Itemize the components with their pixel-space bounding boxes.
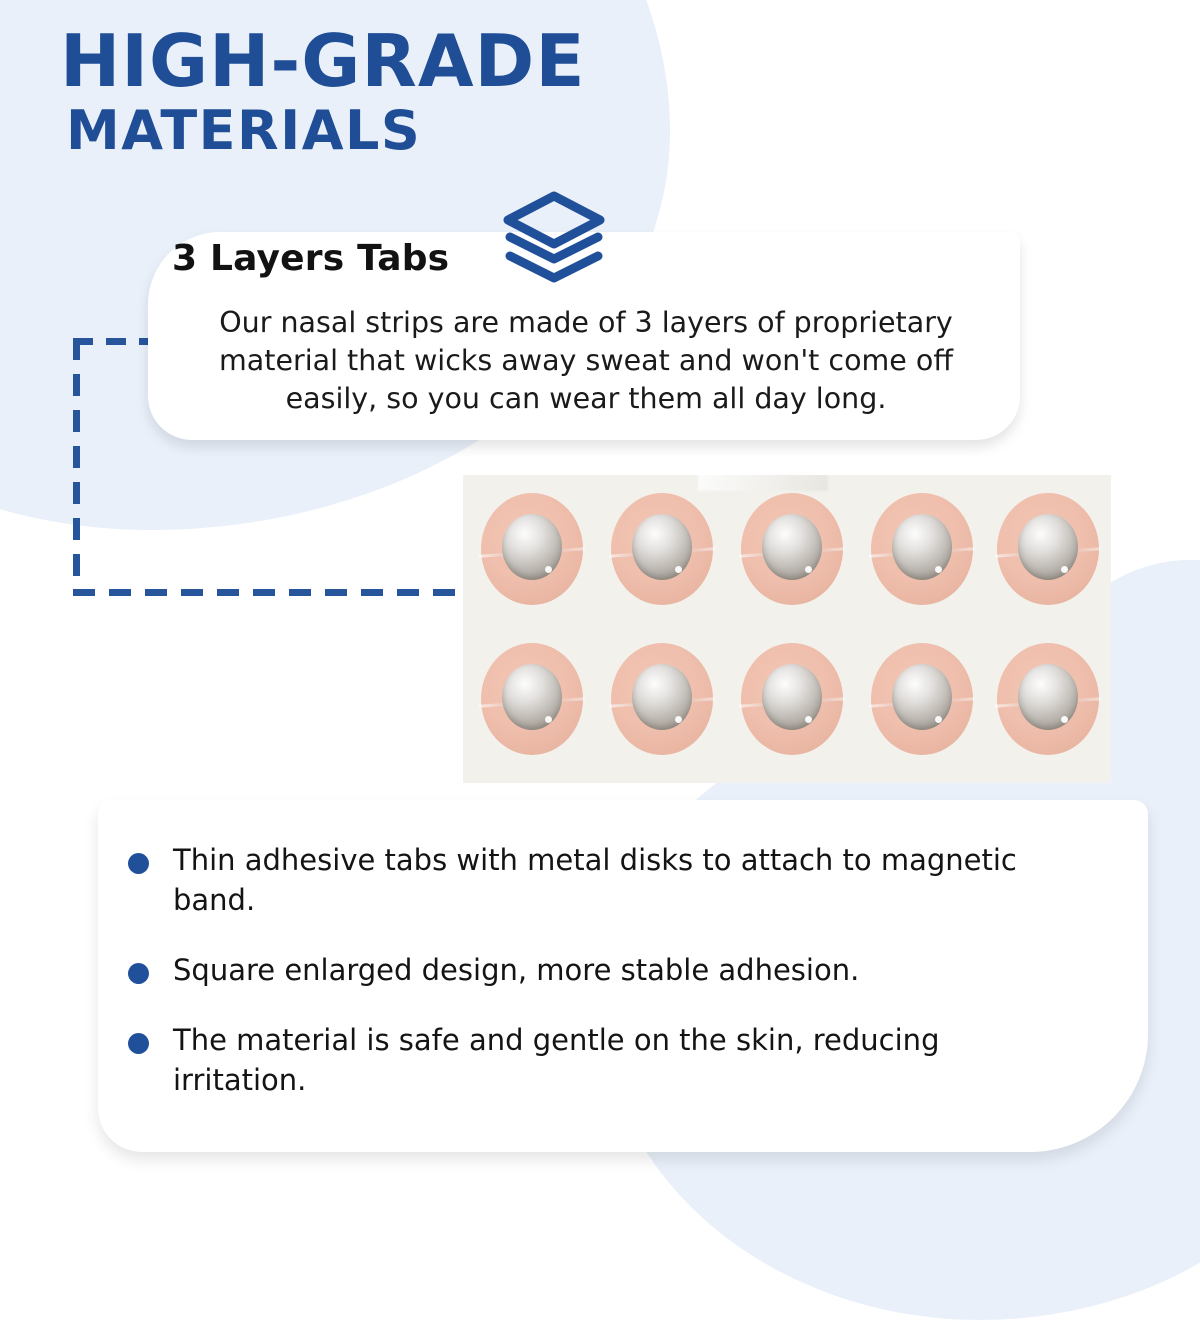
adhesive-tab bbox=[871, 643, 973, 755]
metal-disk bbox=[502, 514, 562, 580]
adhesive-tab bbox=[997, 493, 1099, 605]
metal-disk bbox=[632, 514, 692, 580]
adhesive-tab bbox=[871, 493, 973, 605]
headline-line-1: HIGH-GRADE bbox=[60, 26, 586, 97]
bullet-dot-icon bbox=[128, 853, 149, 874]
bullet-dot-icon bbox=[128, 963, 149, 984]
feature-bullet-text: The material is safe and gentle on the s… bbox=[173, 1020, 1033, 1100]
feature-bullet-text: Square enlarged design, more stable adhe… bbox=[173, 950, 859, 990]
adhesive-tab bbox=[741, 643, 843, 755]
feature-bullet-item: The material is safe and gentle on the s… bbox=[128, 1020, 1068, 1100]
headline-line-2: MATERIALS bbox=[66, 103, 586, 160]
metal-disk bbox=[1018, 664, 1078, 730]
adhesive-tab bbox=[741, 493, 843, 605]
metal-disk bbox=[892, 664, 952, 730]
feature-bullet-item: Thin adhesive tabs with metal disks to a… bbox=[128, 840, 1068, 920]
metal-disk bbox=[762, 664, 822, 730]
metal-disk bbox=[762, 514, 822, 580]
layers-stack-icon bbox=[498, 188, 610, 288]
paragraph-line-1: Our nasal strips are made of 3 layers of… bbox=[160, 304, 1012, 342]
paragraph-line-2: material that wicks away sweat and won't… bbox=[160, 342, 1012, 380]
metal-disk bbox=[502, 664, 562, 730]
metal-disk bbox=[632, 664, 692, 730]
feature-paragraph: Our nasal strips are made of 3 layers of… bbox=[160, 304, 1012, 418]
adhesive-tab bbox=[481, 643, 583, 755]
adhesive-tab bbox=[481, 493, 583, 605]
page-title: HIGH-GRADE MATERIALS bbox=[60, 26, 586, 159]
metal-disk bbox=[1018, 514, 1078, 580]
product-photo bbox=[463, 475, 1111, 783]
bullet-dot-icon bbox=[128, 1033, 149, 1054]
adhesive-tab bbox=[997, 643, 1099, 755]
feature-bullet-text: Thin adhesive tabs with metal disks to a… bbox=[173, 840, 1033, 920]
paragraph-line-3: easily, so you can wear them all day lon… bbox=[160, 380, 1012, 418]
metal-disk bbox=[892, 514, 952, 580]
infographic-canvas: HIGH-GRADE MATERIALS 3 Layers Tabs Our n… bbox=[0, 0, 1200, 1200]
feature-bullet-list: Thin adhesive tabs with metal disks to a… bbox=[128, 840, 1068, 1100]
adhesive-tab bbox=[611, 643, 713, 755]
photo-highlight bbox=[698, 475, 828, 491]
dashed-frame-bottom bbox=[73, 589, 465, 596]
adhesive-tab bbox=[611, 493, 713, 605]
feature-subheading: 3 Layers Tabs bbox=[172, 238, 449, 279]
feature-bullet-item: Square enlarged design, more stable adhe… bbox=[128, 950, 1068, 990]
dashed-frame-left bbox=[73, 338, 80, 596]
